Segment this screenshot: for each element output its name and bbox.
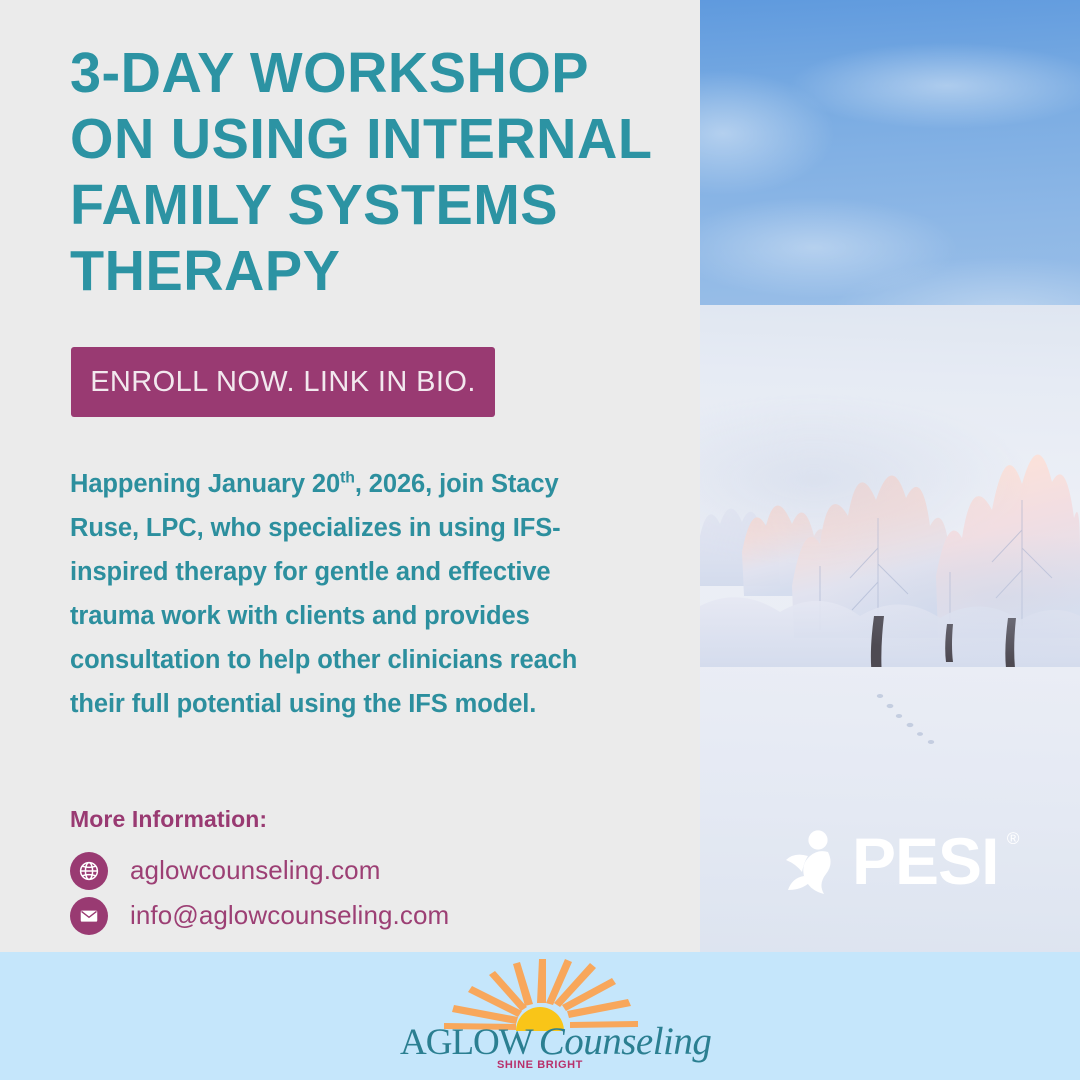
counseling-brand-text: Counseling [539, 1020, 712, 1063]
more-information-heading: More Information: [70, 806, 267, 833]
page-title: 3-DAY WORKSHOP ON USING INTERNAL FAMILY … [70, 40, 658, 304]
tagline: SHINE BRIGHT [400, 1059, 680, 1071]
pesi-wordmark: PESI® [852, 828, 998, 894]
pesi-logo: PESI® [784, 828, 998, 894]
globe-icon [70, 852, 108, 890]
date-ordinal-suffix: th [340, 470, 355, 487]
pesi-text: PESI [852, 824, 998, 898]
contact-row-website[interactable]: aglowcounseling.com [70, 848, 630, 893]
content-panel: 3-DAY WORKSHOP ON USING INTERNAL FAMILY … [0, 0, 700, 952]
footprint-trail [870, 690, 960, 760]
description-part-one: Happening January 20 [70, 470, 340, 498]
registered-trademark-icon: ® [1007, 830, 1019, 847]
website-url[interactable]: aglowcounseling.com [130, 855, 381, 886]
aglow-counseling-logo: AGLOWCounseling SHINE BRIGHT [400, 957, 680, 1077]
pesi-figure-icon [784, 828, 846, 894]
promotional-poster: 3-DAY WORKSHOP ON USING INTERNAL FAMILY … [0, 0, 1080, 1080]
aglow-brand-text: AGLOW [400, 1022, 533, 1063]
aglow-wordmark: AGLOWCounseling [400, 1019, 680, 1064]
event-description: Happening January 20th, 2026, join Stacy… [70, 462, 595, 726]
enroll-now-button[interactable]: ENROLL NOW. LINK IN BIO. [71, 347, 495, 417]
winter-trees-photo: PESI® [700, 0, 1080, 952]
contact-list: aglowcounseling.com info@aglowcounseling… [70, 848, 630, 938]
envelope-icon [70, 897, 108, 935]
footer-banner: AGLOWCounseling SHINE BRIGHT [0, 952, 1080, 1080]
email-address[interactable]: info@aglowcounseling.com [130, 900, 449, 931]
contact-row-email[interactable]: info@aglowcounseling.com [70, 893, 630, 938]
description-part-two: , 2026, join Stacy Ruse, LPC, who specia… [70, 470, 577, 718]
